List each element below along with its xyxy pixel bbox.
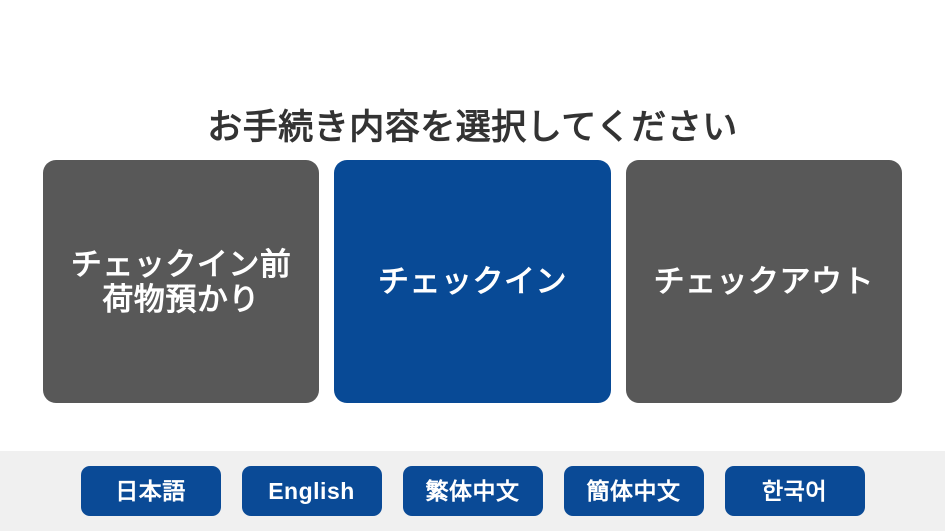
kiosk-screen: お手続き内容を選択してください チェックイン前 荷物預かり チェックイン チェッ… (0, 0, 945, 531)
language-button-english[interactable]: English (242, 466, 382, 516)
option-card-checkout[interactable]: チェックアウト (626, 160, 902, 403)
language-button-japanese[interactable]: 日本語 (81, 466, 221, 516)
procedure-option-group: チェックイン前 荷物預かり チェックイン チェックアウト (43, 160, 902, 403)
option-card-baggage-before-checkin[interactable]: チェックイン前 荷物預かり (43, 160, 319, 403)
option-card-checkin[interactable]: チェックイン (334, 160, 610, 403)
language-selector-bar: 日本語 English 繁体中文 簡体中文 한국어 (0, 451, 945, 531)
language-button-korean[interactable]: 한국어 (725, 466, 865, 516)
option-card-label: チェックイン前 荷物預かり (71, 247, 292, 317)
language-button-traditional-chinese[interactable]: 繁体中文 (403, 466, 543, 516)
language-button-simplified-chinese[interactable]: 簡体中文 (564, 466, 704, 516)
option-card-label: チェックイン (378, 264, 567, 299)
page-title: お手続き内容を選択してください (0, 106, 945, 150)
option-card-label: チェックアウト (654, 264, 875, 299)
